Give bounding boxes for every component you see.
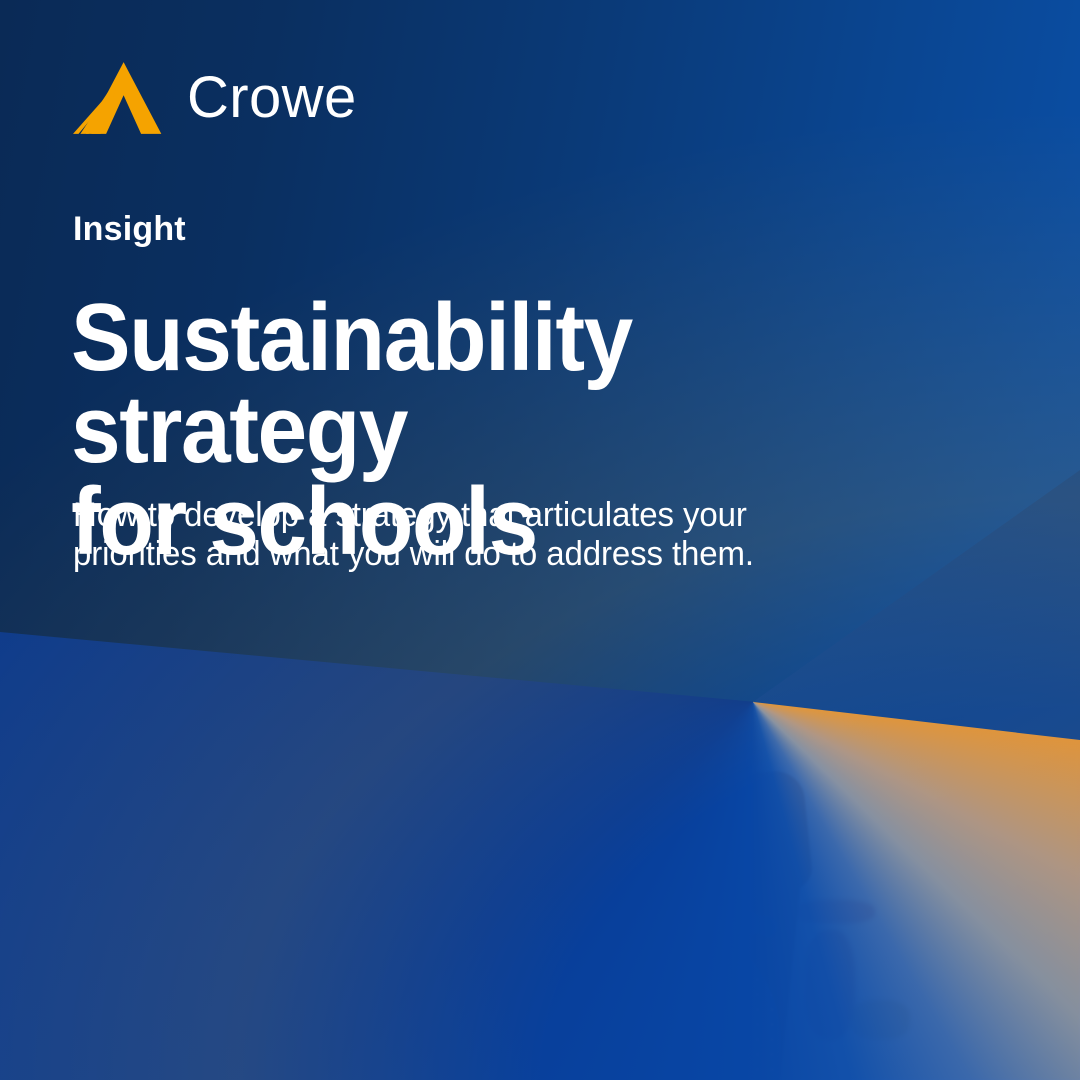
crowe-wordmark: Crowe: [187, 69, 357, 127]
page-subtitle-line-1: How to develop a strategy that articulat…: [73, 496, 927, 535]
insight-card: Crowe Insight Sustainability strategy fo…: [0, 0, 1080, 1080]
page-title-line-1: Sustainability strategy: [71, 292, 917, 476]
card-content: Crowe Insight Sustainability strategy fo…: [0, 0, 1080, 1080]
crowe-logo[interactable]: Crowe: [73, 62, 357, 134]
content-type-label: Insight: [73, 210, 186, 249]
crowe-arrow-mark: [73, 62, 165, 134]
page-subtitle: How to develop a strategy that articulat…: [73, 496, 927, 574]
page-subtitle-line-2: priorities and what you will do to addre…: [73, 535, 927, 574]
